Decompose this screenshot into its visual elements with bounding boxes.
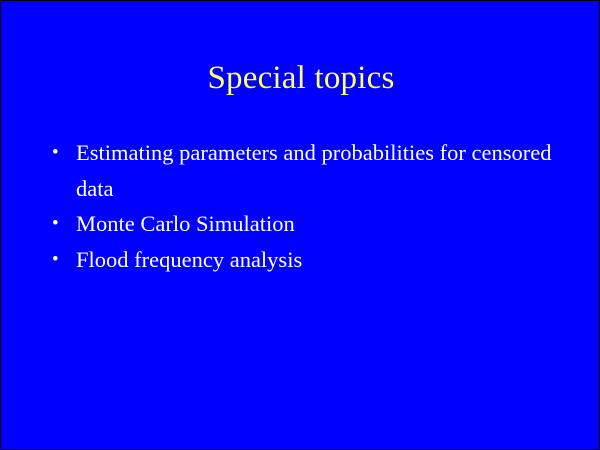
- list-item-label: Flood frequency analysis: [76, 242, 559, 278]
- bullet-point-icon: •: [52, 206, 72, 242]
- bullet-point-icon: •: [52, 135, 72, 171]
- list-item: • Estimating parameters and probabilitie…: [49, 135, 559, 206]
- bullet-list: • Estimating parameters and probabilitie…: [49, 135, 559, 277]
- page-title: Special topics: [1, 59, 600, 97]
- list-item-label: Monte Carlo Simulation: [76, 206, 559, 242]
- list-item: • Monte Carlo Simulation: [49, 206, 559, 242]
- list-item-label: Estimating parameters and probabilities …: [76, 135, 559, 206]
- presentation-slide: Special topics • Estimating parameters a…: [0, 0, 600, 450]
- list-item: • Flood frequency analysis: [49, 242, 559, 278]
- bullet-point-icon: •: [52, 242, 72, 278]
